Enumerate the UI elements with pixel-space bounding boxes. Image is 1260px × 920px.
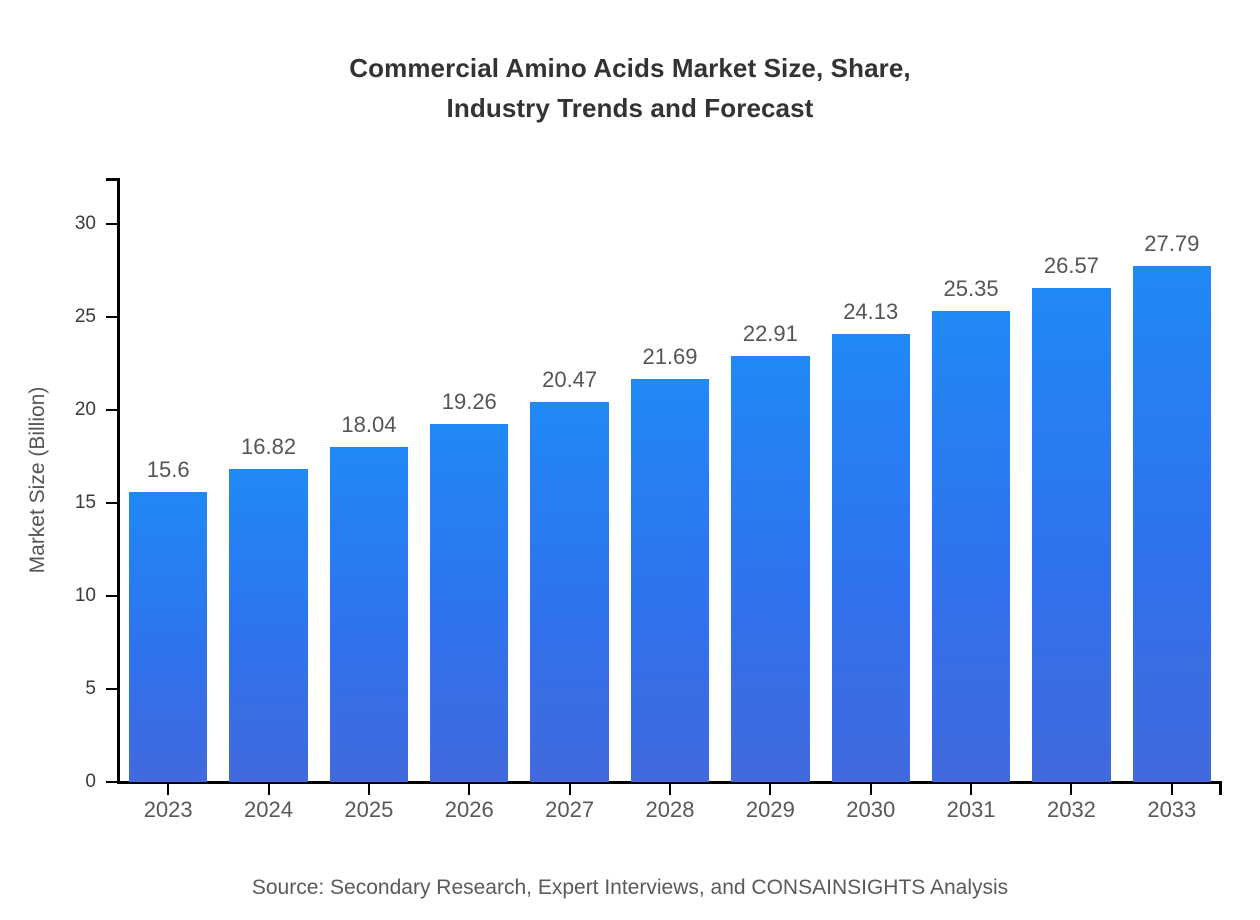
y-axis-tick [106,781,119,783]
x-axis-tick-label: 2031 [947,797,996,823]
x-axis-tick-label: 2029 [746,797,795,823]
x-axis-tick [167,783,169,795]
x-axis-tick [569,783,571,795]
bar-chart-figure: Commercial Amino Acids Market Size, Shar… [0,0,1260,920]
x-axis-tick [669,783,671,795]
bar-value-label: 21.69 [642,344,697,370]
x-axis-tick [268,783,270,795]
bar[interactable] [832,334,910,782]
bar-value-label: 15.6 [147,457,190,483]
x-axis-tick-label: 2032 [1047,797,1096,823]
bar[interactable] [229,469,307,782]
x-axis-tick-label: 2024 [244,797,293,823]
x-axis-tick-label: 2026 [445,797,494,823]
x-axis-tick-label: 2028 [646,797,695,823]
bar[interactable] [129,492,207,782]
bar-value-label: 19.26 [442,389,497,415]
y-axis-title: Market Size (Billion) [26,387,50,574]
bar[interactable] [1133,266,1211,782]
y-axis-line [117,178,120,784]
bar-value-label: 24.13 [843,299,898,325]
bar[interactable] [530,402,608,782]
x-axis-right-cap [1219,781,1222,795]
bar[interactable] [932,311,1010,782]
bar[interactable] [1032,288,1110,782]
bar-value-label: 25.35 [944,276,999,302]
x-axis-tick [1171,783,1173,795]
x-axis-tick-label: 2023 [144,797,193,823]
y-axis-tick [106,316,119,318]
bar[interactable] [330,447,408,782]
y-axis-tick [106,688,119,690]
y-axis-tick [106,223,119,225]
x-axis-tick-label: 2030 [846,797,895,823]
y-axis-tick [106,502,119,504]
x-axis-tick [870,783,872,795]
bar-value-label: 16.82 [241,434,296,460]
source-note: Source: Secondary Research, Expert Inter… [0,876,1260,900]
y-axis-tick-label: 0 [85,771,96,793]
x-axis-tick [970,783,972,795]
x-axis-tick [468,783,470,795]
y-axis-tick-label: 25 [75,306,96,328]
bar[interactable] [631,379,709,782]
chart-title: Commercial Amino Acids Market Size, Shar… [0,48,1260,128]
y-axis-tick-label: 5 [85,678,96,700]
bar[interactable] [430,424,508,782]
y-axis-tick-label: 15 [75,492,96,514]
y-axis-tick [106,595,119,597]
y-axis-tick-label: 10 [75,585,96,607]
y-axis-tick-label: 20 [75,399,96,421]
bar-value-label: 18.04 [341,412,396,438]
x-axis-tick [769,783,771,795]
x-axis-tick-label: 2027 [545,797,594,823]
bar-value-label: 26.57 [1044,253,1099,279]
bar-value-label: 22.91 [743,321,798,347]
bar-value-label: 20.47 [542,367,597,393]
x-axis-tick [1070,783,1072,795]
x-axis-tick [368,783,370,795]
x-axis-tick-label: 2025 [344,797,393,823]
y-axis-tick-label: 30 [75,213,96,235]
y-axis-tick [106,409,119,411]
bar[interactable] [731,356,809,782]
x-axis-tick-label: 2033 [1147,797,1196,823]
bar-value-label: 27.79 [1144,231,1199,257]
